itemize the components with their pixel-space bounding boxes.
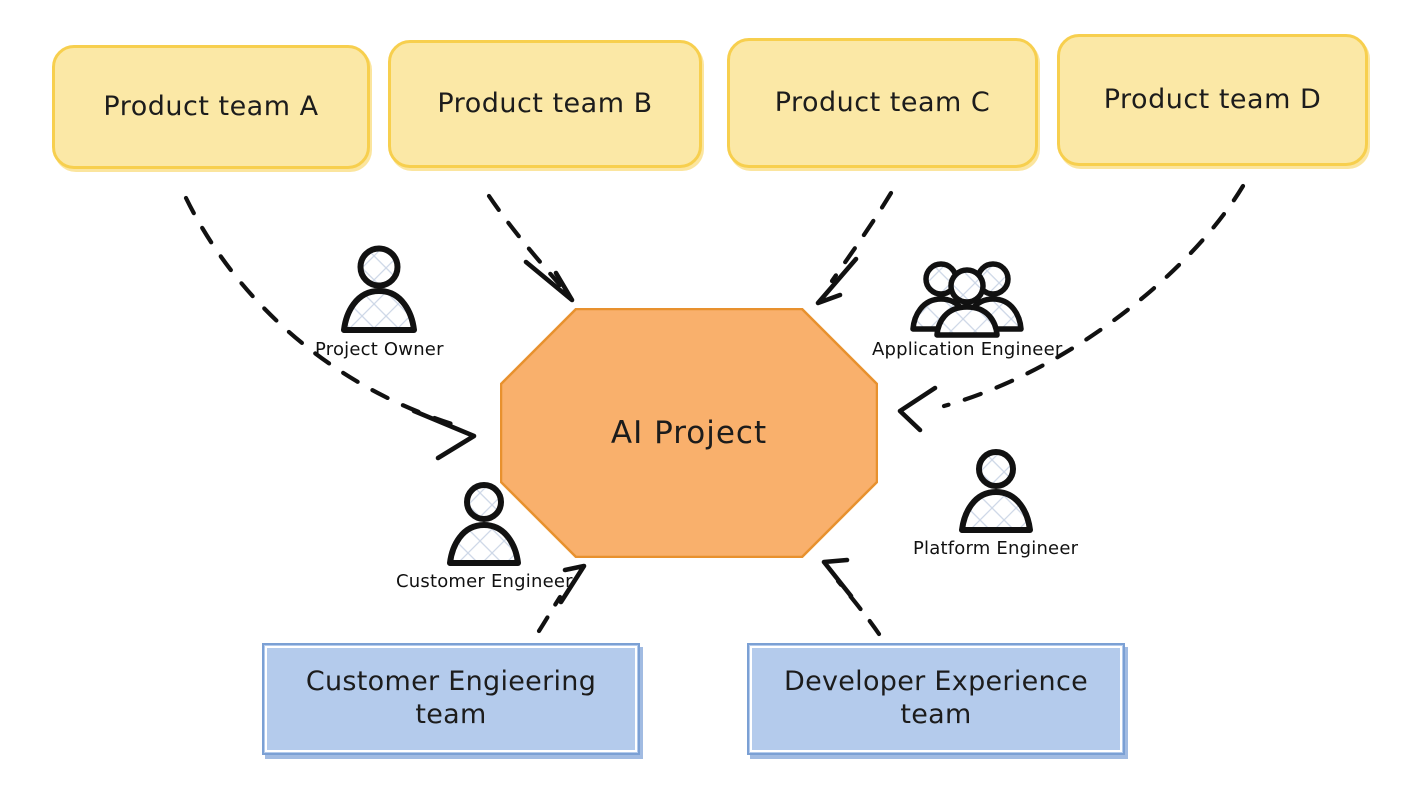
node-developer-experience-team[interactable]: Developer Experience team: [747, 643, 1125, 755]
node-label: Customer Engieering team: [278, 666, 624, 732]
node-label: Product team C: [775, 87, 991, 120]
node-product-team-d[interactable]: Product team D: [1057, 34, 1368, 166]
person-group-icon: [903, 258, 1031, 338]
persona-label: Customer Engineer: [396, 571, 573, 592]
node-label: Product team B: [437, 88, 652, 121]
node-label: Developer Experience team: [763, 666, 1109, 732]
persona-project-owner: Project Owner: [315, 243, 444, 360]
single-person-icon: [444, 480, 524, 570]
edge-team-b-to-center: [489, 196, 572, 300]
diagram-canvas: Product team A Product team B Product te…: [0, 0, 1416, 788]
persona-application-engineer: Application Engineer: [872, 258, 1062, 360]
persona-label: Platform Engineer: [913, 538, 1078, 559]
edge-developer-experience-to-center: [824, 560, 879, 634]
node-label: Product team A: [103, 91, 318, 124]
node-product-team-a[interactable]: Product team A: [52, 45, 370, 169]
node-product-team-c[interactable]: Product team C: [727, 38, 1038, 168]
persona-customer-engineer: Customer Engineer: [396, 480, 573, 592]
single-person-icon: [956, 447, 1036, 537]
node-customer-engineering-team[interactable]: Customer Engieering team: [262, 643, 640, 755]
node-product-team-b[interactable]: Product team B: [388, 40, 702, 168]
persona-label: Project Owner: [315, 339, 444, 360]
persona-platform-engineer: Platform Engineer: [913, 447, 1078, 559]
persona-label: Application Engineer: [872, 339, 1062, 360]
node-label: Product team D: [1104, 84, 1322, 117]
single-person-icon: [338, 243, 420, 338]
